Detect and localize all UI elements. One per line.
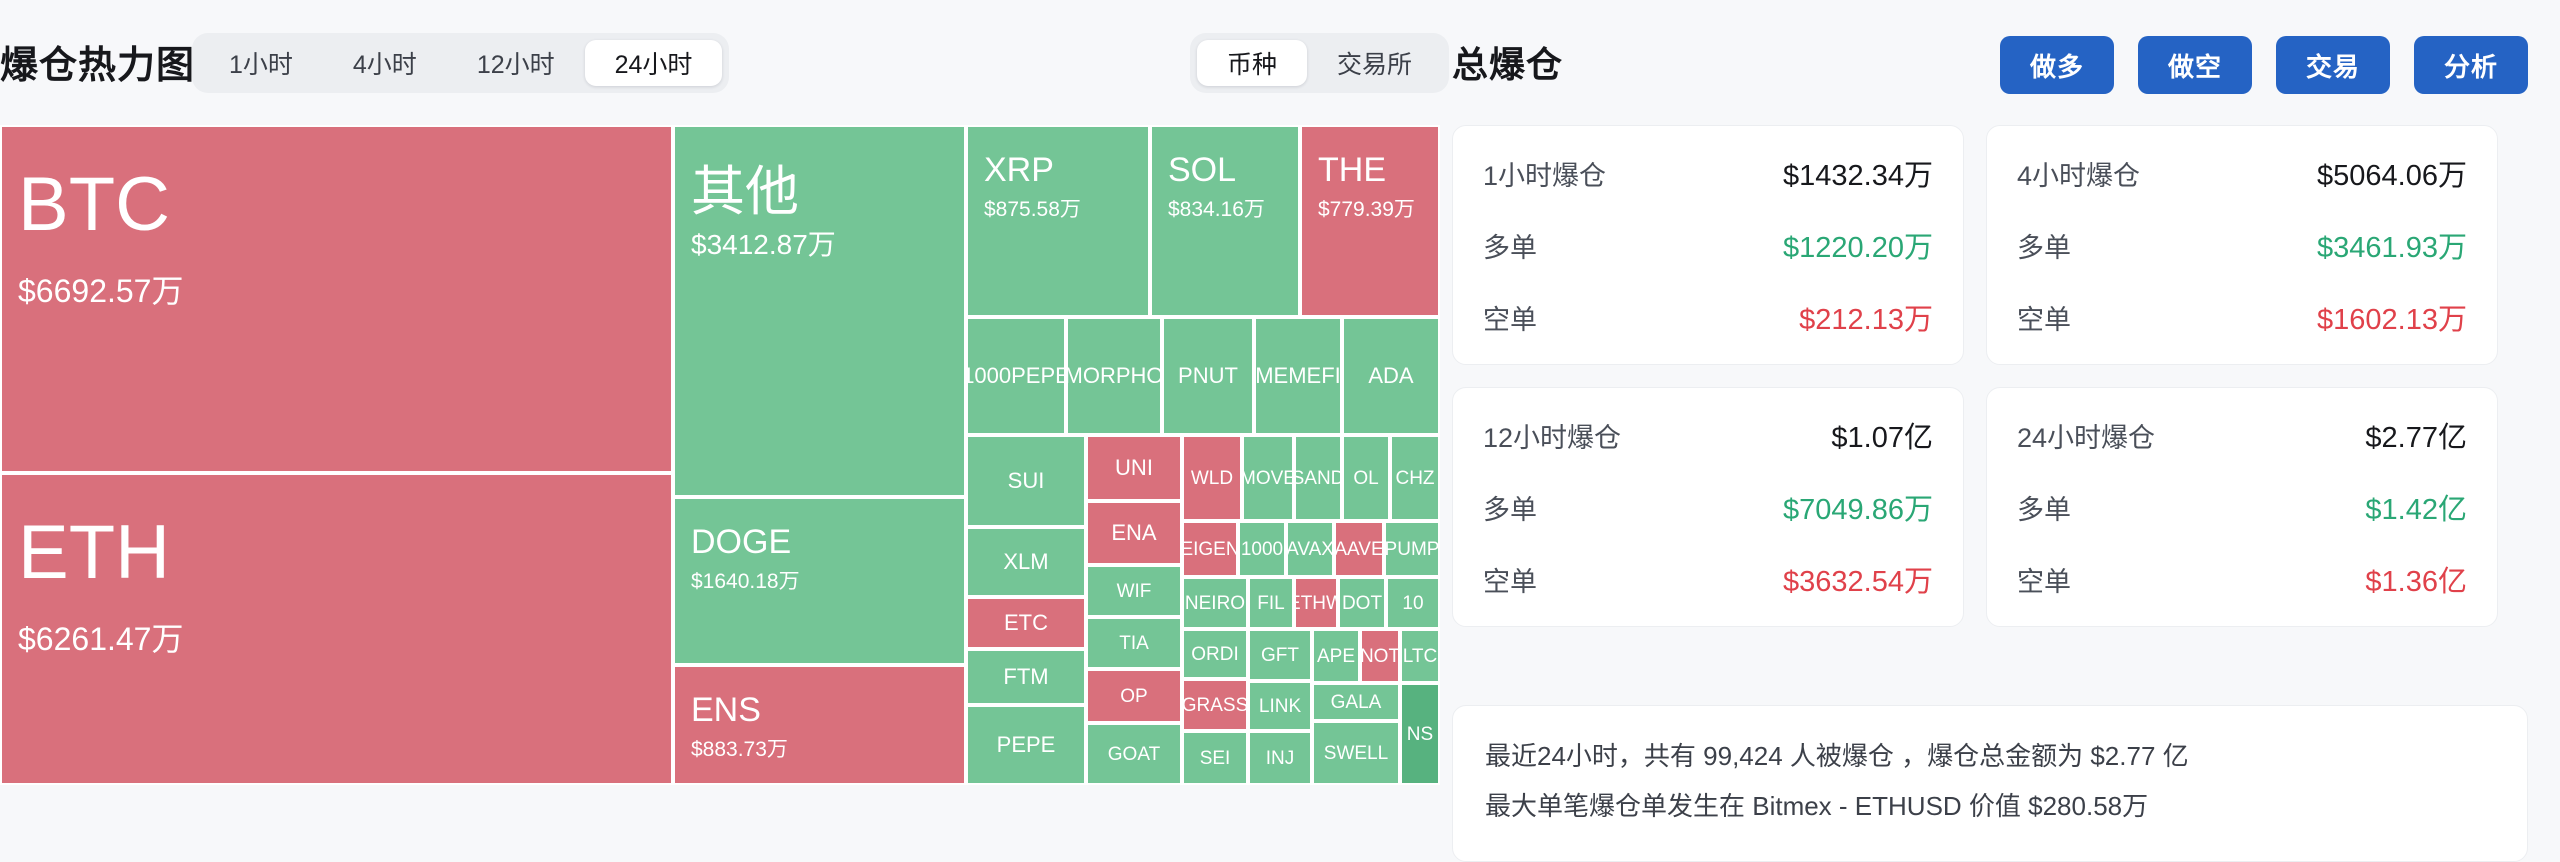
tile-symbol: CHZ	[1395, 469, 1434, 488]
stat-card-0: 1小时爆仓$1432.34万多单$1220.20万空单$212.13万	[1452, 125, 1964, 365]
tile-value: $3412.87万	[691, 231, 836, 259]
treemap-tile-ltc[interactable]: LTC	[1400, 629, 1440, 683]
stat-card-long-value: $3461.93万	[2317, 224, 2467, 266]
treemap-tile-op[interactable]: OP	[1086, 669, 1182, 723]
tile-symbol: PUMP	[1385, 540, 1440, 559]
stat-card-long-label: 多单	[1483, 226, 1537, 265]
tile-symbol: PNUT	[1178, 365, 1238, 387]
group-by-tab-0[interactable]: 币种	[1197, 40, 1307, 86]
tile-symbol: SWELL	[1324, 744, 1388, 763]
tile-symbol: NS	[1407, 725, 1433, 744]
page-header: 爆仓热力图 1小时4小时12小时24小时 币种交易所 总爆仓 做多做空交易分析	[0, 0, 2560, 125]
timeframe-tab-2[interactable]: 12小时	[447, 40, 585, 86]
treemap-tile-memefi[interactable]: MEMEFI	[1254, 317, 1342, 435]
tile-symbol: ETH	[18, 515, 170, 591]
treemap-tile-link[interactable]: LINK	[1248, 681, 1312, 731]
stat-card-row: 空单$1602.13万	[2017, 296, 2467, 338]
stat-card-row: 12小时爆仓$1.07亿	[1483, 414, 1933, 456]
tile-symbol: GRASS	[1182, 696, 1248, 715]
stat-card-long-value: $1220.20万	[1783, 224, 1933, 266]
stat-card-row: 4小时爆仓$5064.06万	[2017, 152, 2467, 194]
treemap-tile-sol[interactable]: SOL$834.16万	[1150, 125, 1300, 317]
treemap-tile-ftm[interactable]: FTM	[966, 649, 1086, 705]
group-by-tab-1[interactable]: 交易所	[1307, 40, 1442, 86]
tile-symbol: DOT	[1342, 594, 1382, 613]
treemap-tile-1000pepe[interactable]: 1000PEPE	[966, 317, 1066, 435]
tile-symbol: MEMEFI	[1255, 365, 1341, 387]
tile-symbol: SAND	[1294, 469, 1342, 488]
page-title: 爆仓热力图	[0, 34, 195, 89]
tile-symbol: SOL	[1168, 153, 1236, 187]
tile-symbol: APE	[1317, 647, 1355, 666]
tile-symbol: LINK	[1259, 697, 1301, 716]
tile-symbol: MOVE	[1242, 469, 1294, 488]
treemap-tile-ens[interactable]: ENS$883.73万	[673, 665, 966, 785]
summary-line-1: 最近24小时，共有 99,424 人被爆仓 ，爆仓总金额为 $2.77 亿	[1485, 736, 2495, 776]
stat-card-long-label: 多单	[1483, 488, 1537, 527]
stat-card-row: 多单$1.42亿	[2017, 486, 2467, 528]
stat-card-total: $1432.34万	[1783, 152, 1933, 194]
treemap-tile-xrp[interactable]: XRP$875.58万	[966, 125, 1150, 317]
treemap-tile-10[interactable]: 10	[1386, 577, 1440, 629]
stat-card-row: 1小时爆仓$1432.34万	[1483, 152, 1933, 194]
stat-card-row: 多单$3461.93万	[2017, 224, 2467, 266]
stat-card-long-value: $7049.86万	[1783, 486, 1933, 528]
treemap-tile-sei[interactable]: SEI	[1182, 731, 1248, 785]
treemap-tile-avax[interactable]: AVAX	[1286, 521, 1334, 577]
tile-symbol: GALA	[1331, 693, 1382, 712]
tile-symbol: ENS	[691, 693, 761, 727]
tile-symbol: XLM	[1003, 551, 1048, 573]
tile-symbol: OP	[1120, 687, 1147, 706]
stat-card-title: 24小时爆仓	[2017, 416, 2155, 455]
treemap-tile-xlm[interactable]: XLM	[966, 527, 1086, 597]
treemap-tile-the[interactable]: THE$779.39万	[1300, 125, 1440, 317]
treemap-tile-etc[interactable]: ETC	[966, 597, 1086, 649]
tile-symbol: UNI	[1115, 457, 1153, 479]
stat-card-row: 空单$3632.54万	[1483, 558, 1933, 600]
stat-card-short-value: $1.36亿	[2365, 558, 2467, 600]
action-button-3[interactable]: 分析	[2414, 36, 2528, 94]
treemap-tile-chz[interactable]: CHZ	[1390, 435, 1440, 521]
tile-value: $779.39万	[1318, 199, 1415, 220]
totals-panel: 1小时爆仓$1432.34万多单$1220.20万空单$212.13万4小时爆仓…	[1452, 125, 2528, 825]
treemap-tile-gala[interactable]: GALA	[1312, 683, 1400, 721]
tile-symbol: AVAX	[1286, 540, 1334, 559]
tile-value: $6261.47万	[18, 623, 183, 655]
tile-symbol: PEPE	[997, 734, 1056, 756]
treemap-tile-ada[interactable]: ADA	[1342, 317, 1440, 435]
treemap-tile-neiro[interactable]: NEIRO	[1182, 577, 1248, 629]
treemap-tile-wif[interactable]: WIF	[1086, 565, 1182, 617]
treemap-tile-sand[interactable]: SAND	[1294, 435, 1342, 521]
treemap-tile-aave[interactable]: AAVE	[1334, 521, 1384, 577]
section-title: 总爆仓	[1452, 36, 1563, 88]
tile-symbol: ORDI	[1191, 645, 1239, 664]
treemap-tile-eth[interactable]: ETH$6261.47万	[0, 473, 673, 785]
tile-symbol: GOAT	[1108, 745, 1160, 764]
tile-symbol: LTC	[1403, 647, 1437, 666]
tile-symbol: DOGE	[691, 525, 791, 559]
stat-card-short-value: $3632.54万	[1783, 558, 1933, 600]
treemap-tile-pepe[interactable]: PEPE	[966, 705, 1086, 785]
tile-symbol: OL	[1353, 469, 1378, 488]
tile-symbol: THE	[1318, 153, 1386, 187]
treemap-tile-dot[interactable]: DOT	[1338, 577, 1386, 629]
tile-symbol: ADA	[1368, 365, 1413, 387]
treemap-tile-其他[interactable]: 其他$3412.87万	[673, 125, 966, 497]
treemap-tile-eigen[interactable]: EIGEN	[1182, 521, 1238, 577]
treemap-tile-pump[interactable]: PUMP	[1384, 521, 1440, 577]
treemap-tile-ena[interactable]: ENA	[1086, 501, 1182, 565]
stat-card-long-value: $1.42亿	[2365, 486, 2467, 528]
tile-symbol: FTM	[1003, 666, 1048, 688]
stat-card-short-value: $212.13万	[1799, 296, 1933, 338]
treemap-tile-uni[interactable]: UNI	[1086, 435, 1182, 501]
treemap-tile-ordi[interactable]: ORDI	[1182, 629, 1248, 679]
stat-card-title: 12小时爆仓	[1483, 416, 1621, 455]
summary-card: 最近24小时，共有 99,424 人被爆仓 ，爆仓总金额为 $2.77 亿 最大…	[1452, 705, 2528, 862]
treemap-tile-fil[interactable]: FIL	[1248, 577, 1294, 629]
tile-value: $883.73万	[691, 739, 788, 760]
treemap-tile-gft[interactable]: GFT	[1248, 629, 1312, 681]
action-button-0[interactable]: 做多	[2000, 36, 2114, 94]
stat-card-short-label: 空单	[1483, 560, 1537, 599]
stat-card-total: $1.07亿	[1831, 414, 1933, 456]
liquidation-heatmap-page: 爆仓热力图 1小时4小时12小时24小时 币种交易所 总爆仓 做多做空交易分析 …	[0, 0, 2560, 848]
stat-card-short-label: 空单	[1483, 298, 1537, 337]
action-button-group: 做多做空交易分析	[2000, 36, 2528, 94]
tile-value: $6692.57万	[18, 275, 183, 307]
treemap-tile-swell[interactable]: SWELL	[1312, 721, 1400, 785]
stat-card-short-label: 空单	[2017, 560, 2071, 599]
tile-symbol: 10	[1402, 594, 1423, 613]
treemap-tile-inj[interactable]: INJ	[1248, 731, 1312, 785]
treemap-tile-doge[interactable]: DOGE$1640.18万	[673, 497, 966, 665]
timeframe-tab-0[interactable]: 1小时	[199, 40, 323, 86]
stat-card-long-label: 多单	[2017, 226, 2071, 265]
action-button-2[interactable]: 交易	[2276, 36, 2390, 94]
tile-symbol: GFT	[1261, 646, 1299, 665]
tile-symbol: MORPHO	[1066, 365, 1162, 387]
tile-symbol: FIL	[1257, 594, 1284, 613]
stat-card-short-label: 空单	[2017, 298, 2071, 337]
tile-symbol: ETHW	[1294, 594, 1338, 613]
stat-card-short-value: $1602.13万	[2317, 296, 2467, 338]
stat-card-title: 1小时爆仓	[1483, 154, 1606, 193]
treemap-tile-1000[interactable]: 1000	[1238, 521, 1286, 577]
stat-card-row: 多单$7049.86万	[1483, 486, 1933, 528]
tile-symbol: AAVE	[1334, 540, 1383, 559]
stat-card-title: 4小时爆仓	[2017, 154, 2140, 193]
stat-card-row: 空单$1.36亿	[2017, 558, 2467, 600]
stat-card-total: $2.77亿	[2365, 414, 2467, 456]
stat-card-long-label: 多单	[2017, 488, 2071, 527]
treemap-tile-btc[interactable]: BTC$6692.57万	[0, 125, 673, 473]
timeframe-tab-1[interactable]: 4小时	[323, 40, 447, 86]
stat-card-grid: 1小时爆仓$1432.34万多单$1220.20万空单$212.13万4小时爆仓…	[1452, 125, 2528, 627]
treemap-tile-ethw[interactable]: ETHW	[1294, 577, 1338, 629]
tile-symbol: INJ	[1266, 749, 1295, 768]
treemap-tile-tia[interactable]: TIA	[1086, 617, 1182, 669]
tile-symbol: ETC	[1004, 612, 1048, 634]
liquidation-treemap[interactable]: BTC$6692.57万ETH$6261.47万其他$3412.87万DOGE$…	[0, 125, 1440, 785]
treemap-tile-move[interactable]: MOVE	[1242, 435, 1294, 521]
tile-symbol: EIGEN	[1182, 540, 1238, 559]
stat-card-row: 多单$1220.20万	[1483, 224, 1933, 266]
treemap-tile-wld[interactable]: WLD	[1182, 435, 1242, 521]
tile-symbol: WLD	[1191, 469, 1233, 488]
timeframe-tab-group[interactable]: 1小时4小时12小时24小时	[192, 33, 729, 93]
treemap-tile-morpho[interactable]: MORPHO	[1066, 317, 1162, 435]
timeframe-tab-3[interactable]: 24小时	[585, 40, 723, 86]
tile-symbol: SUI	[1008, 470, 1045, 492]
treemap-tile-sui[interactable]: SUI	[966, 435, 1086, 527]
summary-line-2: 最大单笔爆仓单发生在 Bitmex - ETHUSD 价值 $280.58万	[1485, 786, 2495, 826]
tile-value: $875.58万	[984, 199, 1081, 220]
group-by-tab-group[interactable]: 币种交易所	[1190, 33, 1449, 93]
tile-symbol: BTC	[18, 167, 170, 243]
tile-value: $834.16万	[1168, 199, 1265, 220]
tile-symbol: SEI	[1200, 749, 1231, 768]
stat-card-2: 12小时爆仓$1.07亿多单$7049.86万空单$3632.54万	[1452, 387, 1964, 627]
treemap-tile-pnut[interactable]: PNUT	[1162, 317, 1254, 435]
treemap-tile-ol[interactable]: OL	[1342, 435, 1390, 521]
action-button-1[interactable]: 做空	[2138, 36, 2252, 94]
tile-symbol: ENA	[1111, 522, 1156, 544]
tile-symbol: 1000PEPE	[966, 365, 1066, 387]
stat-card-total: $5064.06万	[2317, 152, 2467, 194]
stat-card-row: 24小时爆仓$2.77亿	[2017, 414, 2467, 456]
tile-symbol: NEIRO	[1185, 594, 1245, 613]
stat-card-row: 空单$212.13万	[1483, 296, 1933, 338]
stat-card-1: 4小时爆仓$5064.06万多单$3461.93万空单$1602.13万	[1986, 125, 2498, 365]
tile-symbol: NOT	[1360, 647, 1400, 666]
treemap-tile-not[interactable]: NOT	[1360, 629, 1400, 683]
treemap-tile-ape[interactable]: APE	[1312, 629, 1360, 683]
tile-symbol: WIF	[1117, 582, 1152, 601]
tile-symbol: XRP	[984, 153, 1054, 187]
treemap-tile-goat[interactable]: GOAT	[1086, 723, 1182, 785]
tile-symbol: 1000	[1241, 540, 1283, 559]
tile-symbol: 其他	[691, 165, 799, 219]
tile-value: $1640.18万	[691, 571, 800, 592]
treemap-tile-grass[interactable]: GRASS	[1182, 679, 1248, 731]
stat-card-3: 24小时爆仓$2.77亿多单$1.42亿空单$1.36亿	[1986, 387, 2498, 627]
treemap-tile-ns[interactable]: NS	[1400, 683, 1440, 785]
tile-symbol: TIA	[1119, 634, 1149, 653]
